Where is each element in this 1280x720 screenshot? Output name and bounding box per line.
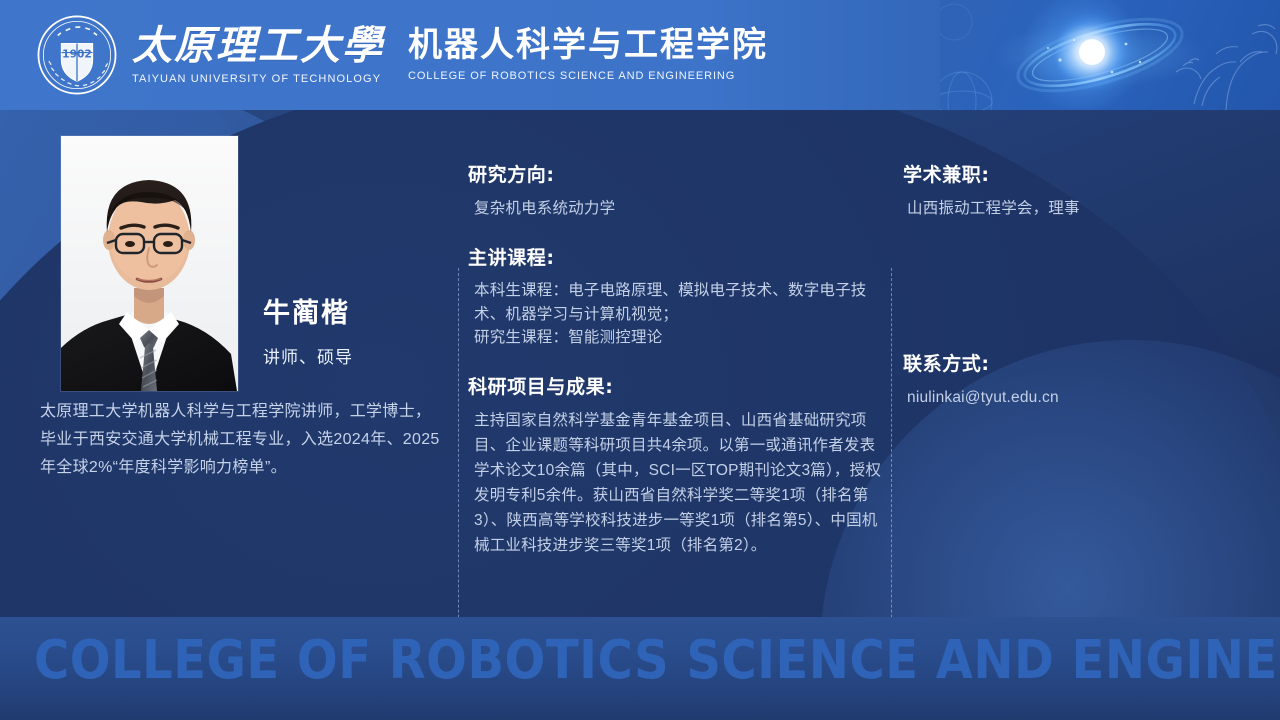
college-name-en: COLLEGE OF ROBOTICS SCIENCE AND ENGINEER… [408,70,768,82]
research-heading: 研究方向: [468,160,883,187]
slide-root: 1902 [0,0,1280,720]
appointments-body: 山西振动工程学会，理事 [903,196,1263,221]
projects-body: 主持国家自然科学基金青年基金项目、山西省基础研究项目、企业课题等科研项目共4余项… [468,408,883,559]
footer-band: COLLEGE OF ROBOTICS SCIENCE AND ENGINEER… [0,617,1280,720]
column-spacer [903,221,1263,349]
university-name-cn: 太原理工大學 [132,26,384,66]
college-wordmark: 机器人科学与工程学院 COLLEGE OF ROBOTICS SCIENCE A… [404,28,768,82]
seal-svg: 1902 [36,14,118,96]
profile-position: 讲师、硕导 [263,343,443,368]
page-title: 牛蔺楷 [263,298,443,329]
appointments-heading: 学术兼职: [903,160,1263,187]
courses-heading: 主讲课程: [468,243,883,270]
seal-year-text: 1902 [62,47,92,60]
contact-email[interactable]: niulinkai@tyut.edu.cn [903,385,1263,410]
university-seal-icon: 1902 [36,14,118,96]
university-wordmark: 太原理工大學 TAIYUAN UNIVERSITY OF TECHNOLOGY [132,26,384,85]
energy-orb-illustration [940,0,1280,110]
research-body: 复杂机电系统动力学 [468,196,883,221]
college-name-cn: 机器人科学与工程学院 [408,28,768,62]
projects-heading: 科研项目与成果: [468,372,883,399]
profile-bio: 太原理工大学机器人科学与工程学院讲师，工学博士，毕业于西安交通大学机械工程专业，… [40,398,440,482]
contact-heading: 联系方式: [903,349,1263,376]
header-decorative-artwork [940,0,1280,110]
content-panel: 牛蔺楷 讲师、硕导 太原理工大学机器人科学与工程学院讲师，工学博士，毕业于西安交… [10,118,1272,618]
brand-lockup: 1902 [36,14,768,96]
middle-column: 研究方向: 复杂机电系统动力学 主讲课程: 本科生课程：电子电路原理、模拟电子技… [468,160,883,558]
university-name-en: TAIYUAN UNIVERSITY OF TECHNOLOGY [132,73,384,85]
header-band: 1902 [0,0,1280,110]
courses-body: 本科生课程：电子电路原理、模拟电子技术、数字电子技术、机器学习与计算机视觉； 研… [468,279,883,350]
portrait-photo [61,136,238,391]
footer-title: COLLEGE OF ROBOTICS SCIENCE AND ENGINEER… [34,633,1274,687]
avatar [61,136,238,391]
profile-name-block: 牛蔺楷 讲师、硕导 [263,298,443,368]
right-column: 学术兼职: 山西振动工程学会，理事 联系方式: niulinkai@tyut.e… [903,160,1263,410]
